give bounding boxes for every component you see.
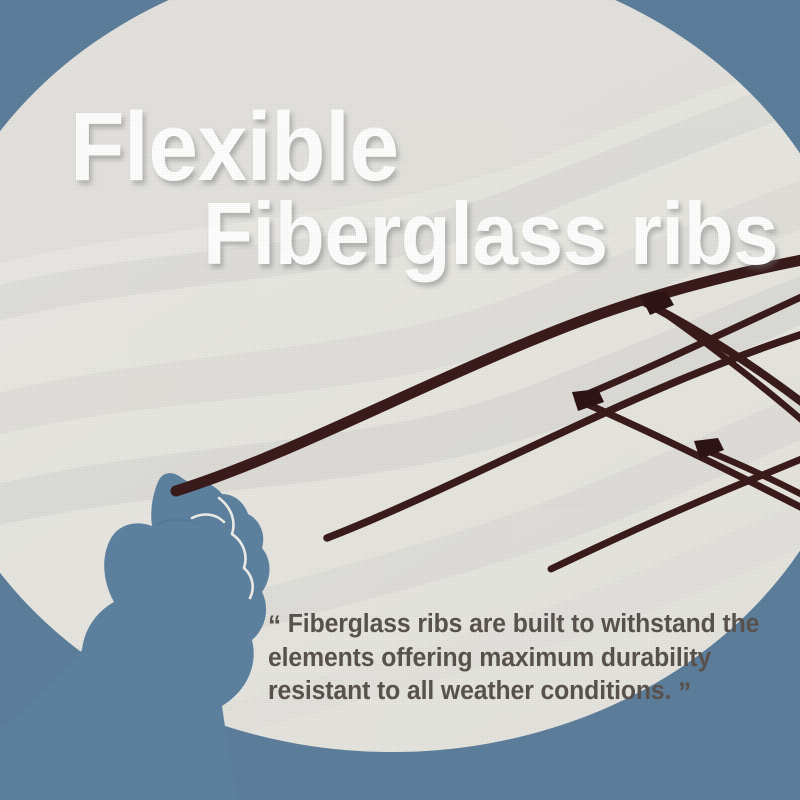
- quote-close-mark: ”: [678, 677, 691, 707]
- artboard: Flexible Fiberglass ribs “ Fiberglass ri…: [0, 0, 800, 800]
- quote-block: “ Fiberglass ribs are built to withstand…: [268, 608, 763, 709]
- promo-banner: Flexible Fiberglass ribs “ Fiberglass ri…: [0, 0, 800, 800]
- quote-open-mark: “: [268, 610, 281, 640]
